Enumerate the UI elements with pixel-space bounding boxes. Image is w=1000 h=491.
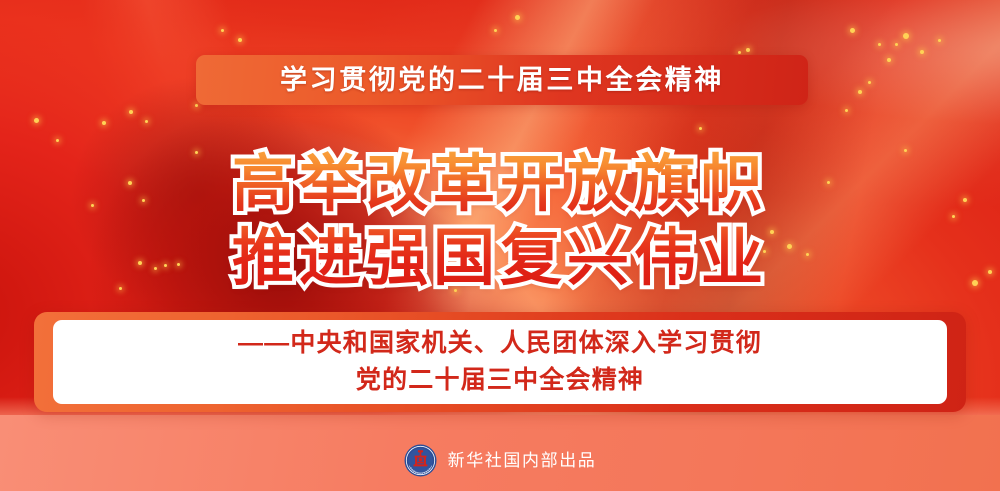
sparkle-dot bbox=[238, 38, 242, 42]
headline-line-2: 推进强国复兴伟业 推进强国复兴伟业 bbox=[0, 222, 1000, 296]
sparkle-dot bbox=[34, 118, 39, 123]
sparkle-dot bbox=[738, 51, 741, 54]
subtitle-line-1: ——中央和国家机关、人民团体深入学习贯彻 bbox=[238, 325, 762, 362]
sparkle-dot bbox=[129, 110, 133, 114]
sparkle-dot bbox=[102, 121, 106, 125]
sparkle-dot bbox=[903, 33, 909, 39]
sparkle-dot bbox=[887, 58, 891, 62]
top-banner-label: 学习贯彻党的二十届三中全会精神 bbox=[280, 67, 724, 94]
sparkle-dot bbox=[920, 50, 924, 54]
sparkle-dot bbox=[858, 90, 862, 94]
sparkle-dot bbox=[145, 120, 148, 123]
footer-credit-label: 新华社国内部出品 bbox=[448, 452, 597, 469]
sparkle-dot bbox=[850, 28, 855, 33]
sparkle-dot bbox=[221, 29, 224, 32]
footer: 新华社国内部出品 bbox=[0, 444, 1000, 477]
sparkle-dot bbox=[845, 109, 848, 112]
sparkle-dot bbox=[895, 43, 898, 46]
sparkle-dot bbox=[746, 48, 750, 52]
sparkle-dot bbox=[868, 81, 871, 84]
xinhua-logo-icon bbox=[404, 444, 437, 477]
sparkle-dot bbox=[515, 15, 520, 20]
poster-canvas: 学习贯彻党的二十届三中全会精神 高举改革开放旗帜 高举改革开放旗帜 推进强国复兴… bbox=[0, 0, 1000, 491]
headline-block: 高举改革开放旗帜 高举改革开放旗帜 推进强国复兴伟业 推进强国复兴伟业 bbox=[0, 148, 1000, 296]
sparkle-dot bbox=[494, 29, 497, 32]
sparkle-dot bbox=[699, 127, 702, 130]
headline-line-1-fill: 高举改革开放旗帜 bbox=[232, 150, 768, 219]
top-banner: 学习贯彻党的二十届三中全会精神 bbox=[196, 55, 808, 105]
sparkle-dot bbox=[195, 104, 198, 107]
sparkle-dot bbox=[878, 43, 881, 46]
sparkle-dot bbox=[56, 139, 59, 142]
subtitle-card: ——中央和国家机关、人民团体深入学习贯彻 党的二十届三中全会精神 bbox=[53, 320, 947, 404]
headline-line-2-fill: 推进强国复兴伟业 bbox=[232, 224, 768, 293]
subtitle-line-2: 党的二十届三中全会精神 bbox=[356, 362, 644, 399]
headline-line-1: 高举改革开放旗帜 高举改革开放旗帜 bbox=[0, 148, 1000, 222]
sparkle-dot bbox=[938, 39, 941, 42]
